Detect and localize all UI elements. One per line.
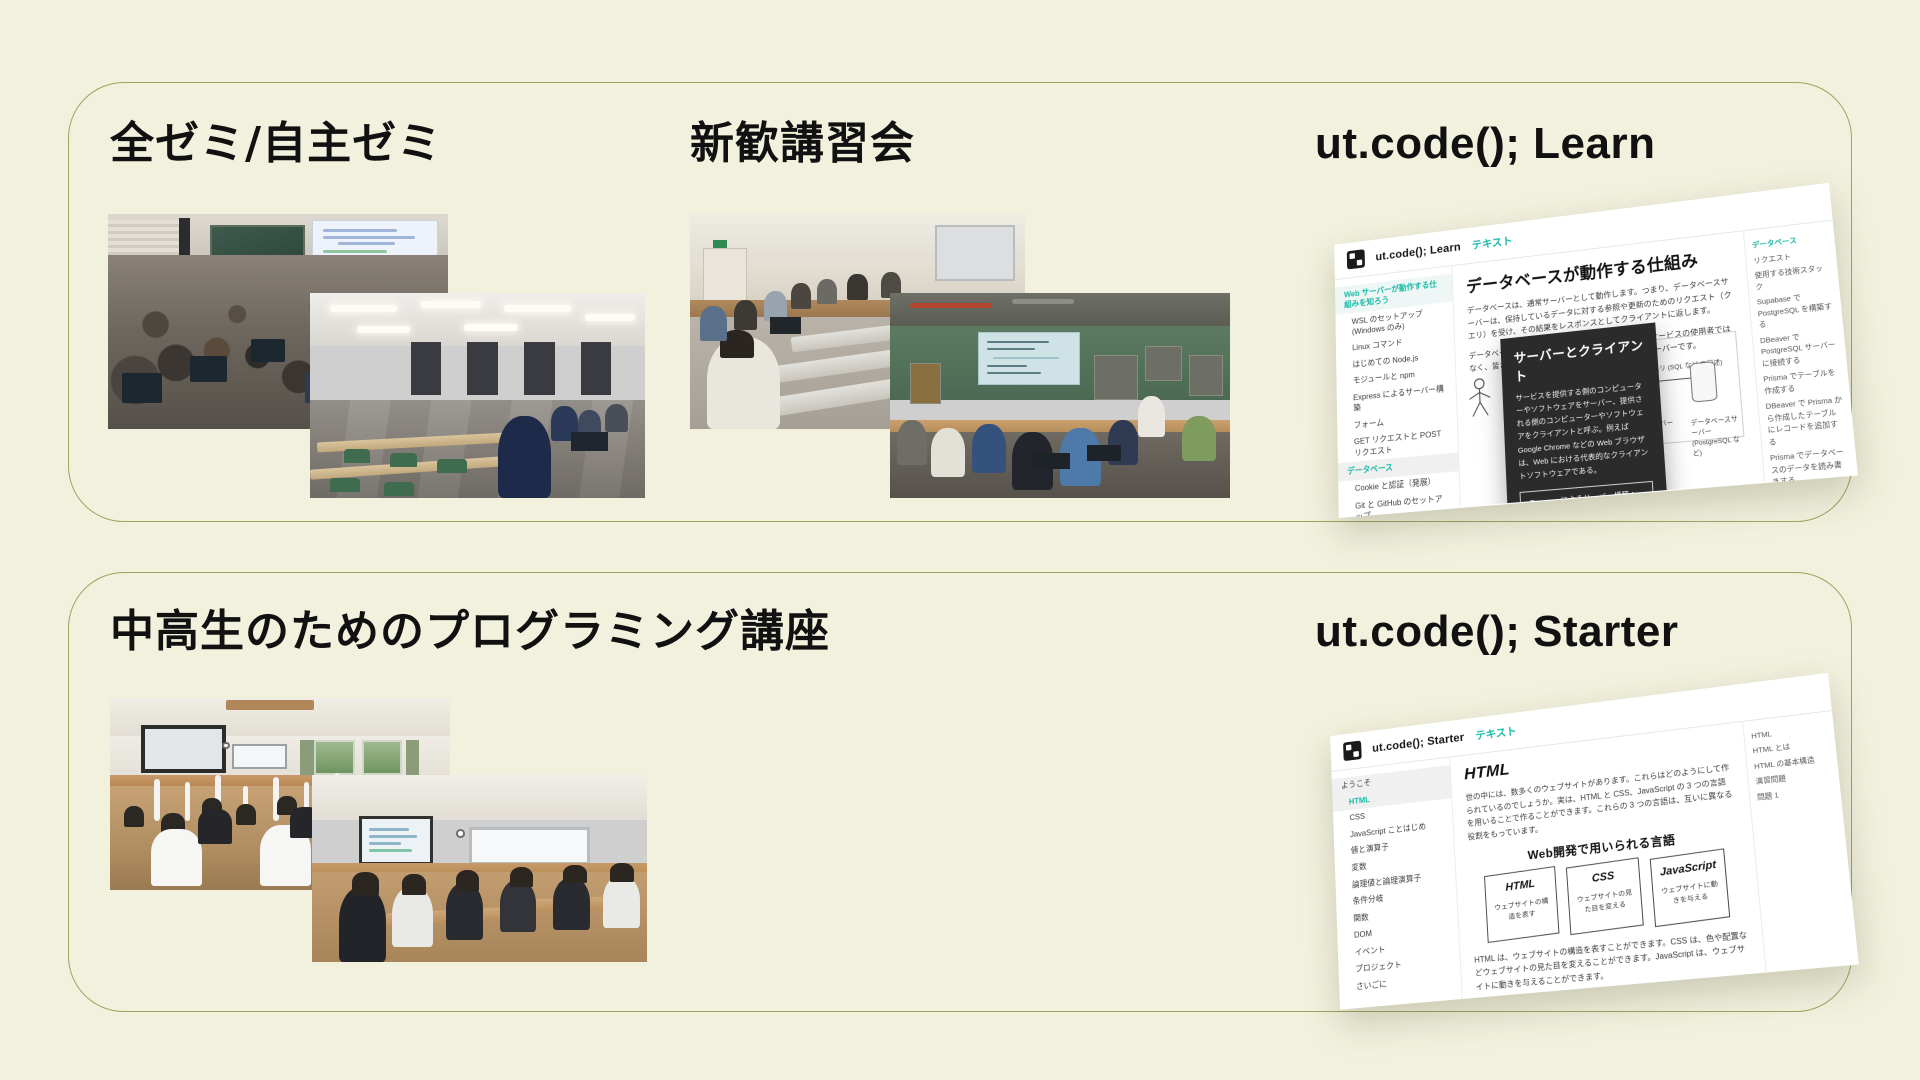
starter-sidebar[interactable]: ようこそ HTML CSS JavaScript ことはじめ 値と演算子 変数 … bbox=[1331, 757, 1462, 1008]
language-name: HTML bbox=[1490, 876, 1550, 896]
language-desc: ウェブサイトの見た目を変える bbox=[1574, 887, 1637, 918]
heading-shinkan: 新歓講習会 bbox=[690, 122, 915, 166]
learn-brand: ut.code(); Learn bbox=[1375, 240, 1461, 263]
toc-item[interactable]: 使用する技術スタック bbox=[1754, 262, 1832, 293]
diagram-label: データベースサーバー (PostgreSQL など) bbox=[1690, 413, 1744, 458]
photo-shinkan-2 bbox=[890, 293, 1230, 498]
starter-nav-text[interactable]: テキスト bbox=[1475, 723, 1517, 743]
toc-item[interactable]: DBeaver で PostgreSQL サーバーに接続する bbox=[1760, 327, 1840, 369]
learn-content: データベースが動作する仕組み データベースは、通常サーバーとして動作します。つま… bbox=[1452, 231, 1763, 507]
heading-zenzemi: 全ゼミ/自主ゼミ bbox=[110, 122, 442, 166]
language-desc: ウェブサイトに動きを与える bbox=[1658, 879, 1722, 910]
learn-nav-text[interactable]: テキスト bbox=[1472, 233, 1513, 253]
utcode-logo-icon bbox=[1343, 740, 1362, 761]
starter-content: HTML 世の中には、数多くのウェブサイトがあります。これらはどのようにして作ら… bbox=[1450, 722, 1765, 998]
language-box: JavaScript ウェブサイトに動きを与える bbox=[1649, 849, 1729, 928]
toc-item[interactable]: DBeaver で Prisma から作成したテーブルにレコードを追加する bbox=[1765, 394, 1847, 448]
language-name: CSS bbox=[1572, 867, 1634, 888]
language-box: HTML ウェブサイトの構造を表す bbox=[1484, 866, 1559, 943]
language-box: CSS ウェブサイトの見た目を変える bbox=[1566, 858, 1644, 936]
language-desc: ウェブサイトの構造を表す bbox=[1491, 896, 1552, 926]
activities-page: 全ゼミ/自主ゼミ 新歓講習会 ut.code(); Learn bbox=[0, 0, 1920, 1080]
utcode-logo-icon bbox=[1347, 249, 1365, 269]
photo-zenzemi-2 bbox=[310, 293, 645, 498]
heading-learn: ut.code(); Learn bbox=[1315, 122, 1655, 166]
starter-brand: ut.code(); Starter bbox=[1372, 730, 1465, 754]
language-name: JavaScript bbox=[1656, 859, 1719, 880]
learn-callout: サーバーとクライアント サービスを提供する側のコンピューターやソフトウェアをサー… bbox=[1500, 322, 1669, 507]
toc-item[interactable]: Prisma でテーブルを作成する bbox=[1763, 366, 1842, 397]
heading-starter: ut.code(); Starter bbox=[1315, 610, 1678, 654]
heading-chukousei: 中高生のためのプログラミング講座 bbox=[110, 610, 830, 654]
photo-chukousei-2 bbox=[312, 775, 647, 962]
learn-screenshot[interactable]: ut.code(); Learn テキスト Web サーバーが動作する仕組みを知… bbox=[1320, 208, 1840, 498]
starter-screenshot[interactable]: ut.code(); Starter テキスト ようこそ HTML CSS Ja… bbox=[1320, 700, 1840, 988]
toc-item[interactable]: Prisma でデータベースのデータを読み書きする bbox=[1770, 446, 1851, 489]
callout-title: サーバーとクライアント bbox=[1513, 334, 1645, 385]
toc-item[interactable]: Supabase で PostgreSQL を構築する bbox=[1756, 289, 1835, 331]
callout-body: サービスを提供する側のコンピューターやソフトウェアをサーバー、提供される側のコン… bbox=[1515, 378, 1652, 483]
learn-sidebar[interactable]: Web サーバーが動作する仕組みを知ろう WSL のセットアップ (Window… bbox=[1335, 266, 1461, 517]
person-icon bbox=[1465, 376, 1495, 420]
